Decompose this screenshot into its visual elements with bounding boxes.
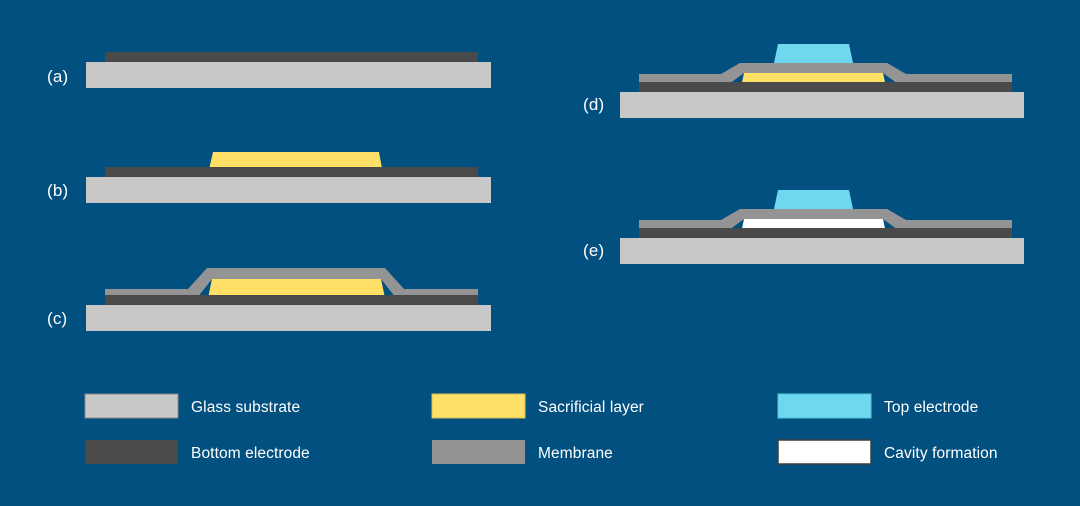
legend-label-top-electrode: Top electrode: [884, 399, 978, 416]
panel-b-bottom-electrode: [105, 167, 478, 178]
panel-b-label: (b): [47, 181, 68, 200]
panel-e-label: (e): [583, 241, 604, 260]
panel-d-bottom-electrode: [639, 82, 1012, 93]
panel-e-top-electrode: [774, 190, 853, 209]
legend-label-bottom-electrode: Bottom electrode: [191, 445, 310, 462]
legend-swatch-glass-substrate: [85, 394, 178, 418]
legend-label-cavity-formation: Cavity formation: [884, 445, 998, 462]
panel-a-label: (a): [47, 67, 68, 86]
legend-label-glass-substrate: Glass substrate: [191, 399, 300, 416]
panel-c-label: (c): [47, 309, 67, 328]
legend-swatch-top-electrode: [778, 394, 871, 418]
panel-c-glass-substrate: [86, 305, 491, 331]
legend-swatch-membrane: [432, 440, 525, 464]
legend-label-sacrificial-layer: Sacrificial layer: [538, 399, 644, 416]
panel-d-glass-substrate: [620, 92, 1024, 118]
legend-label-membrane: Membrane: [538, 445, 613, 462]
panel-a-bottom-electrode: [105, 52, 478, 63]
legend-swatch-sacrificial-layer: [432, 394, 525, 418]
panel-e-bottom-electrode: [639, 228, 1012, 239]
panel-d-top-electrode: [774, 44, 853, 63]
legend-swatch-cavity-formation: [778, 440, 871, 464]
panel-a: (a): [47, 52, 491, 88]
process-flow-diagram: (a) (b) (c) (d): [0, 0, 1080, 506]
panel-a-glass-substrate: [86, 62, 491, 88]
panel-b-glass-substrate: [86, 177, 491, 203]
panel-e-glass-substrate: [620, 238, 1024, 264]
legend-swatch-bottom-electrode: [85, 440, 178, 464]
panel-d-label: (d): [583, 95, 604, 114]
panel-c-bottom-electrode: [105, 295, 478, 306]
